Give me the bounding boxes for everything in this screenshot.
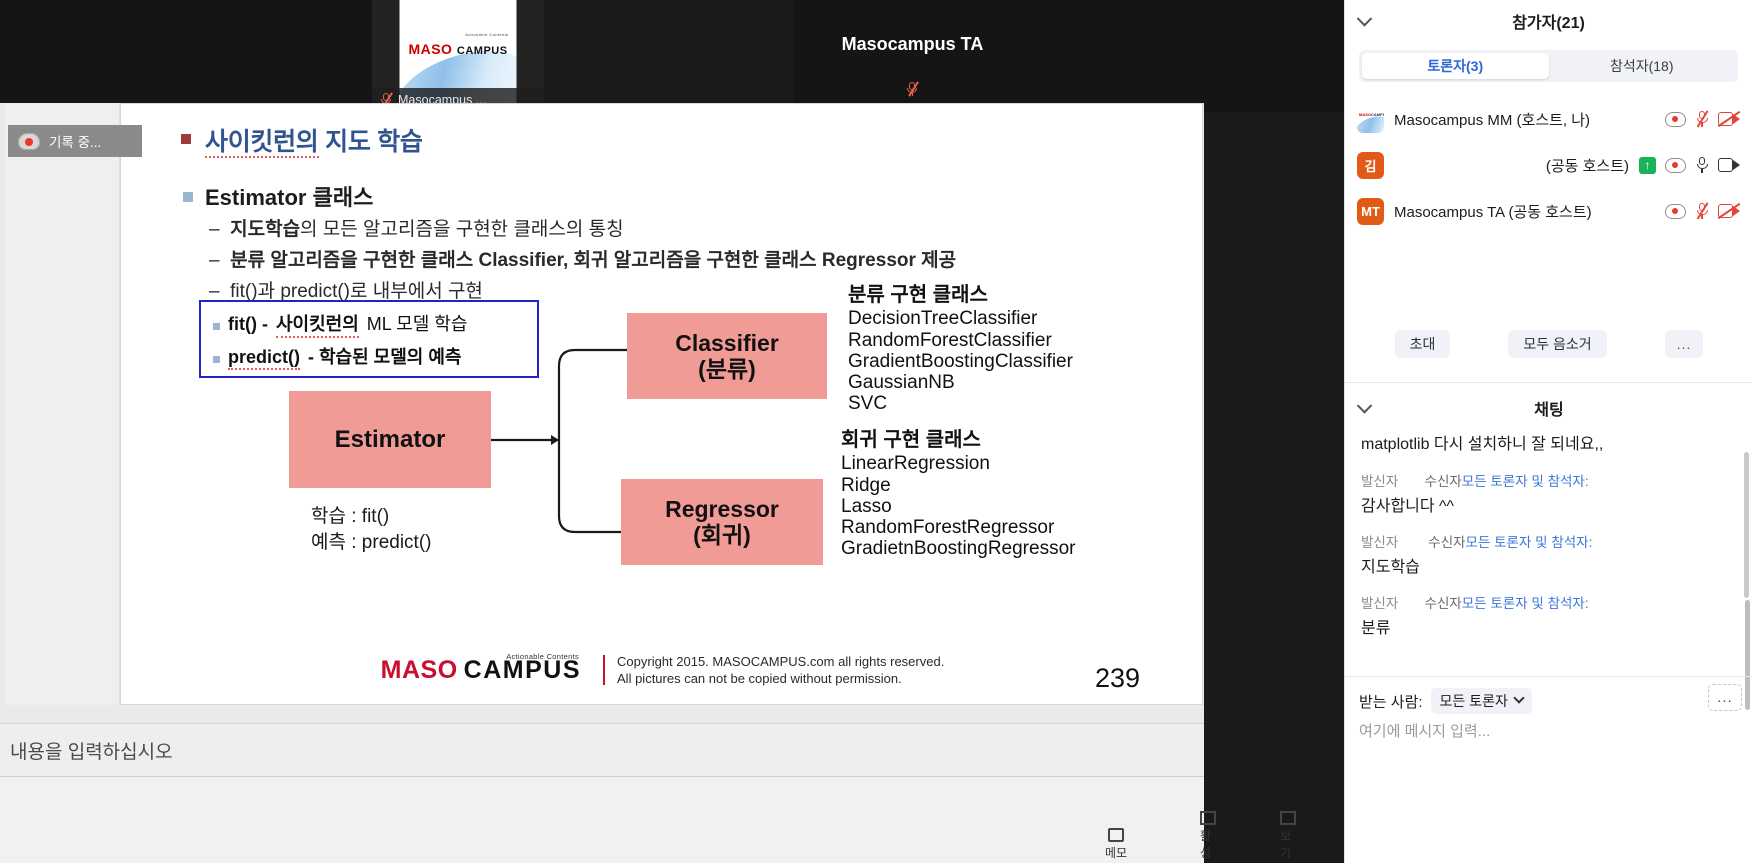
chat-sender: 발신자 [1361,596,1398,611]
participants-actions: 초대 모두 음소거 ... [1345,330,1752,358]
video-tile-empty-2[interactable] [544,0,794,112]
regressor-list-item-1: Ridge [841,475,891,496]
slide-subtitle-row: Estimator 클래스 [183,180,373,212]
fit-predict-box: fit() - 사이킷런의 ML 모델 학습 predict() - 학습된 모… [199,300,539,378]
classifier-list-item-3: GaussianNB [848,372,955,393]
participants-header: 참가자(21) [1345,0,1752,42]
chat-recipient: 모든 토론자 및 참석자: [1462,596,1589,611]
slide-title: 사이킷런의 지도 학습 [205,122,423,158]
avatar-initial: 김 [1365,156,1377,175]
regressor-list-item-3: RandomForestRegressor [841,517,1054,538]
participants-more-button[interactable]: ... [1665,330,1704,358]
video-tile-ta-mic [794,81,1031,102]
chevron-down-icon[interactable] [1357,11,1373,27]
chat-message-text: 지도학습 [1361,553,1737,577]
chat-header: 채팅 [1345,386,1752,430]
chat-recipient-label: 수신자 [1428,535,1465,550]
video-tile-masocampus[interactable]: Actionable Contents MASO CAMPUS Masocamp… [372,0,544,112]
chat-message-meta: 발신자 수신자모든 토론자 및 참석자: [1361,470,1737,490]
video-tile-masocampus-ta[interactable]: Masocampus TA [794,0,1031,112]
memo-icon [1108,828,1124,842]
taskbar-item-grid[interactable]: 보기 [1280,811,1296,861]
slide-title-rest: 지도 학습 [319,128,423,156]
chat-message-meta: 발신자 수신자모든 토론자 및 참석자: [1361,592,1737,612]
fitbox-line-1-spell: 사이킷런의 [276,310,359,338]
regressor-box: Regressor (회귀) [621,479,823,565]
invite-button[interactable]: 초대 [1395,330,1451,358]
slide-dash-1-rest: 의 모든 알고리즘을 구현한 클래스의 통칭 [300,219,624,240]
chat-sender: 발신자 [1361,535,1398,550]
regressor-list-item-4: GradietnBoostingRegressor [841,538,1075,559]
classifier-list-item-2: GradientBoostingClassifier [848,351,1073,372]
chat-to-label: 받는 사람: [1359,691,1423,712]
copyright-line-1: Copyright 2015. MASOCAMPUS.com all right… [617,653,944,671]
chat-recipient-label: 수신자 [1425,474,1462,489]
fitbox-line-2: predict() - 학습된 모델의 예측 [213,343,527,370]
classifier-class-list: 분류 구현 클래스 DecisionTreeClassifier RandomF… [848,284,1073,415]
participant-row[interactable]: MASOCAMPUS Masocampus MM (호스트, 나) [1345,96,1752,142]
taskbar-item-memo[interactable]: 메모 [1105,828,1127,861]
right-side-panel: 참가자(21) 토론자(3) 참석자(18) MASOCAMPUS Masoca… [1344,0,1752,863]
record-icon [18,133,40,150]
chat-message-text: 감사합니다 ^^ [1361,492,1737,516]
fitbox-line-1-code: fit() - [228,314,268,335]
avatar-initial: MT [1361,204,1380,219]
camera-off-icon[interactable] [1718,204,1740,218]
participants-list: MASOCAMPUS Masocampus MM (호스트, 나) 김 [1345,96,1752,234]
slide-footer-divider [603,655,605,685]
mic-on-icon[interactable] [1695,156,1709,174]
slide-dash-1-bold: 지도학습 [230,219,300,240]
participant-name: (공동 호스트) [1394,155,1629,176]
participant-row[interactable]: MT Masocampus TA (공동 호스트) [1345,188,1752,234]
chat-scrollbar[interactable] [1744,452,1749,598]
bullet-square-blue-icon [183,192,193,202]
regressor-list-item-2: Lasso [841,496,892,517]
chat-message-text: 분류 [1361,614,1737,638]
fitbox-line-2-code: predict() [228,347,300,370]
regressor-class-list: 회귀 구현 클래스 LinearRegression Ridge Lasso R… [841,429,1075,560]
fitbox-line-2-rest: - 학습된 모델의 예측 [308,343,461,369]
estimator-box: Estimator [289,391,491,488]
recording-icon [1665,158,1686,173]
estimator-legend-line-2: 예측 : predict() [311,530,431,556]
chat-recipient-value: 모든 토론자 [1440,691,1508,711]
chat-title: 채팅 [1534,396,1563,420]
classifier-list-heading: 분류 구현 클래스 [848,284,1073,306]
chat-recipient-row: 받는 사람: 모든 토론자 [1345,682,1752,720]
zoom-meeting-area: Actionable Contents MASO CAMPUS Masocamp… [0,0,1344,863]
chevron-down-icon [1513,692,1524,703]
regressor-box-label-ko: (회귀) [693,522,751,548]
chat-message: 발신자 수신자모든 토론자 및 참석자: 감사합니다 ^^ [1361,470,1737,516]
avatar: 김 [1357,152,1384,179]
participants-tabs: 토론자(3) 참석자(18) [1359,50,1738,82]
slide-footer: Actionable Contents MASO CAMPUS Copyrigh… [121,653,1203,688]
window-icon [1200,811,1216,825]
chat-sender: 발신자 [1361,474,1398,489]
panel-divider [1345,382,1752,383]
regressor-list-item-0: LinearRegression [841,453,990,474]
slide-page-number: 239 [1095,663,1140,694]
chat-input[interactable]: 여기에 메시지 입력... [1359,720,1490,741]
logo-campus: CAMPUS [457,45,508,57]
participant-row[interactable]: 김 (공동 호스트) [1345,142,1752,188]
mic-muted-icon [906,81,919,97]
slide-dash-3: – fit()과 predict()로 내부에서 구현 [209,276,483,303]
slide-footer-copyright: Copyright 2015. MASOCAMPUS.com all right… [617,653,944,688]
slide-footer-logo-maso: MASO [381,656,458,685]
copyright-line-2: All pictures can not be copied without p… [617,670,944,688]
chat-message: 발신자 수신자모든 토론자 및 참석자: 분류 [1361,592,1737,638]
fitbox-line-1-rest: ML 모델 학습 [367,310,468,336]
chat-recipient: 모든 토론자 및 참석자: [1466,535,1593,550]
recording-icon [1665,112,1686,127]
bullet-square-blue-icon [213,356,220,363]
slide-footer-tagline: Actionable Contents [506,652,579,661]
avatar: MASOCAMPUS [1357,106,1384,133]
video-tile-empty-3[interactable] [1031,0,1344,112]
recording-label: 기록 중... [49,131,101,151]
slide-dash-2-bold: 분류 알고리즘을 구현한 클래스 Classifier, 회귀 알고리즘을 구현… [230,250,956,271]
chat-message-text: matplotlib 다시 설치하니 잘 되네요,, [1361,430,1737,454]
participant-name: Masocampus MM (호스트, 나) [1394,109,1655,130]
taskbar-memo-label: 메모 [1105,844,1127,861]
chat-divider [1345,676,1752,677]
recording-indicator[interactable]: 기록 중... [8,125,142,157]
bullet-square-blue-icon [213,323,220,330]
participant-name: Masocampus TA (공동 호스트) [1394,201,1655,222]
slide-title-spellcheck: 사이킷런의 [205,128,319,158]
taskbar-active-label: 활성 [1200,827,1216,861]
video-thumbnail-strip: Actionable Contents MASO CAMPUS Masocamp… [0,0,1344,112]
logo-text: MASO CAMPUS [400,42,517,58]
shared-screen-left-margin [5,103,120,705]
slide-title-row: 사이킷런의 지도 학습 [181,122,423,158]
classifier-list-item-0: DecisionTreeClassifier [848,308,1037,329]
participant-status-icons [1665,202,1740,220]
estimator-legend: 학습 : fit() 예측 : predict() [311,504,431,555]
fitbox-line-1: fit() - 사이킷런의 ML 모델 학습 [213,310,527,338]
classifier-list-item-1: RandomForestClassifier [848,330,1052,351]
mute-all-button[interactable]: 모두 음소거 [1508,330,1606,358]
regressor-box-label-en: Regressor [665,496,779,522]
video-tile-empty-1[interactable] [0,0,372,112]
classifier-list-item-4: SVC [848,393,887,414]
message-input-strip[interactable]: 내용을 입력하십시오 [0,723,1204,776]
slide-dash-1: – 지도학습의 모든 알고리즘을 구현한 클래스의 통칭 [209,214,624,241]
mic-muted-icon[interactable] [1695,110,1709,128]
regressor-list-heading: 회귀 구현 클래스 [841,429,1075,451]
slide-dash-3-rest: fit()과 predict()로 내부에서 구현 [230,281,483,302]
participants-title: 참가자(21) [1512,9,1585,33]
participant-status-icons [1665,110,1740,128]
raise-hand-badge-icon [1639,157,1656,174]
video-tile-ta-name: Masocampus TA [794,34,1031,55]
message-input-placeholder: 내용을 입력하십시오 [10,737,173,764]
classifier-box-label-en: Classifier [675,330,779,356]
tab-panelists[interactable]: 토론자(3) [1362,53,1549,79]
chat-message: 발신자 수신자모든 토론자 및 참석자: 지도학습 [1361,531,1737,577]
slide-subtitle: Estimator 클래스 [205,180,373,212]
camera-off-icon[interactable] [1718,112,1740,126]
participant-status-icons [1639,156,1740,174]
chat-recipient-label: 수신자 [1425,596,1462,611]
estimator-legend-line-1: 학습 : fit() [311,504,431,530]
mic-muted-icon[interactable] [1695,202,1709,220]
taskbar: 메모 활성 보기 [0,776,1204,863]
chat-message-list[interactable]: matplotlib 다시 설치하니 잘 되네요,, 발신자 수신자모든 토론자… [1345,430,1752,674]
avatar: MT [1357,198,1384,225]
recording-icon [1665,204,1686,219]
taskbar-item-active[interactable]: 활성 [1200,811,1216,861]
slide-dash-2: – 분류 알고리즘을 구현한 클래스 Classifier, 회귀 알고리즘을 … [209,245,956,272]
bullet-square-icon [181,134,191,144]
chat-message-meta: 발신자 수신자모든 토론자 및 참석자: [1361,531,1737,551]
chat-recipient-select[interactable]: 모든 토론자 [1431,688,1532,714]
shared-slide: 사이킷런의 지도 학습 Estimator 클래스 – 지도학습의 모든 알고리… [120,103,1203,705]
chevron-down-icon[interactable] [1357,398,1373,414]
tagline-text: Actionable Contents [465,32,508,37]
logo-maso: MASO [408,41,452,57]
grid-icon [1280,811,1296,825]
screen: Actionable Contents MASO CAMPUS Masocamp… [0,0,1752,863]
tab-attendees[interactable]: 참석자(18) [1549,53,1736,79]
classifier-box-label-ko: (분류) [698,356,756,382]
camera-on-icon[interactable] [1718,158,1740,172]
slide-footer-logo: Actionable Contents MASO CAMPUS [381,656,591,685]
taskbar-grid-label: 보기 [1280,827,1296,861]
chat-more-button[interactable]: ... [1708,684,1742,711]
estimator-box-label: Estimator [335,426,446,454]
chat-recipient: 모든 토론자 및 참석자: [1462,474,1589,489]
classifier-box: Classifier (분류) [627,313,827,399]
